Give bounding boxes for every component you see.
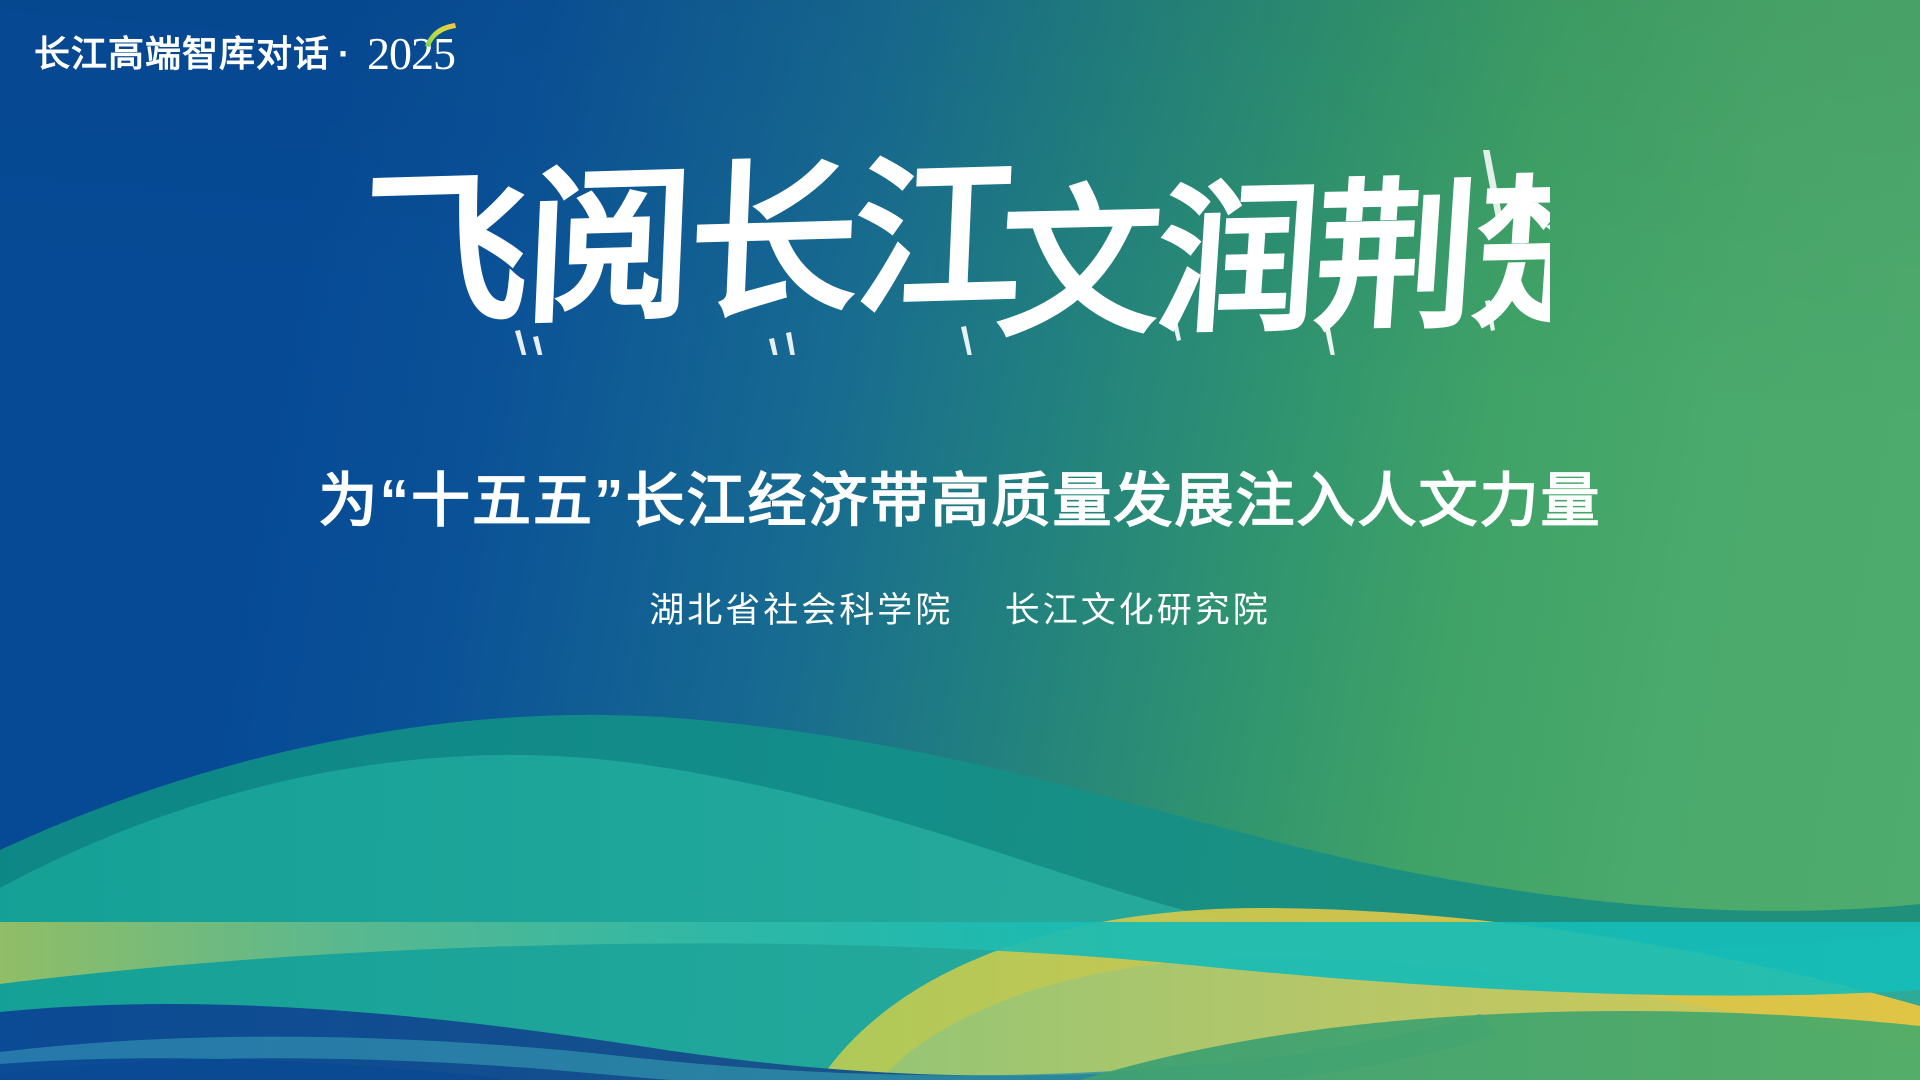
event-logo-year-wrap: 2025 (367, 26, 455, 72)
event-logo-separator: · (338, 36, 351, 72)
organization-1: 湖北省社会科学院 (649, 591, 953, 630)
svg-text:文润荆楚: 文润荆楚 (992, 158, 1550, 355)
event-logo-year: 2025 (367, 31, 455, 77)
svg-text:飞阅长江: 飞阅长江 (370, 150, 1023, 352)
event-logo-text: 长江高端智库对话 (34, 36, 330, 72)
main-title-block: .cal { fill:#ffffff; font-family:"DejaVu… (0, 150, 1920, 355)
main-title-calligraphy: .cal { fill:#ffffff; font-family:"DejaVu… (370, 150, 1550, 355)
subtitle: 为“十五五”长江经济带高质量发展注入人文力量 (0, 466, 1920, 537)
organization-2: 长江文化研究院 (1005, 591, 1271, 630)
poster-root: 长江高端智库对话 · 2025 .cal { fill:#ffffff; fon… (0, 0, 1920, 1080)
event-logo: 长江高端智库对话 · 2025 (34, 26, 455, 72)
organizations-line: 湖北省社会科学院 长江文化研究院 (0, 588, 1920, 634)
